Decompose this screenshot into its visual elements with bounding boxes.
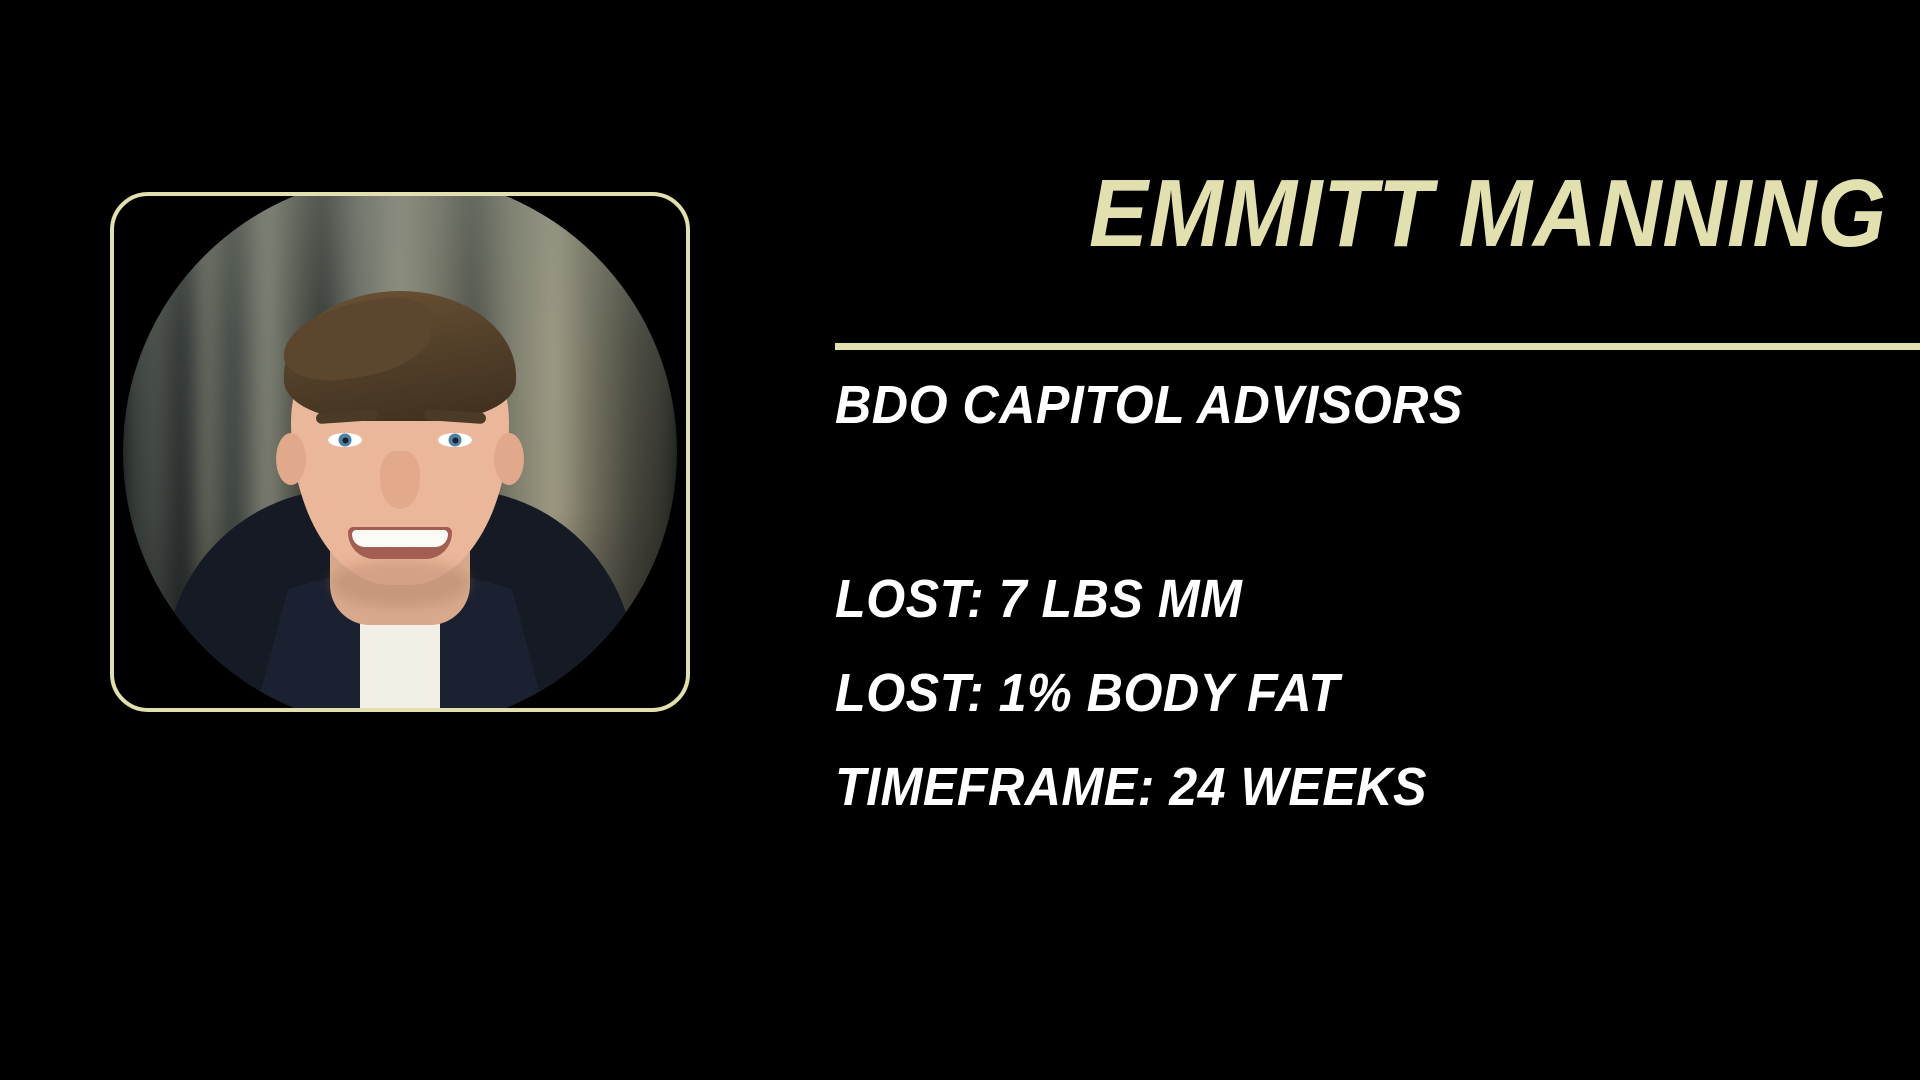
list-item: LOST: 7 LBS MM	[835, 572, 1765, 626]
company-name: BDO CAPITOL ADVISORS	[835, 378, 1463, 432]
teeth-shape	[352, 530, 448, 547]
iris-right	[449, 434, 462, 447]
ear-left	[276, 433, 306, 485]
page-title: EMMITT MANNING	[798, 166, 1920, 262]
list-item: LOST: 1% BODY FAT	[835, 666, 1765, 720]
stats-list: LOST: 7 LBS MM LOST: 1% BODY FAT TIMEFRA…	[835, 572, 1835, 814]
eye-left	[328, 433, 362, 447]
avatar	[123, 192, 677, 712]
ear-right	[494, 433, 524, 485]
title-divider	[835, 343, 1920, 350]
list-item: TIMEFRAME: 24 WEEKS	[835, 760, 1765, 814]
results-slide: EMMITT MANNING BDO CAPITOL ADVISORS LOST…	[0, 0, 1920, 1080]
chin-shadow	[330, 559, 470, 607]
mouth-shape	[348, 527, 452, 559]
portrait-frame	[110, 192, 690, 712]
iris-left	[339, 434, 352, 447]
eye-right	[438, 433, 472, 447]
text-column: EMMITT MANNING BDO CAPITOL ADVISORS LOST…	[700, 0, 1920, 1080]
nose-shape	[380, 451, 420, 509]
